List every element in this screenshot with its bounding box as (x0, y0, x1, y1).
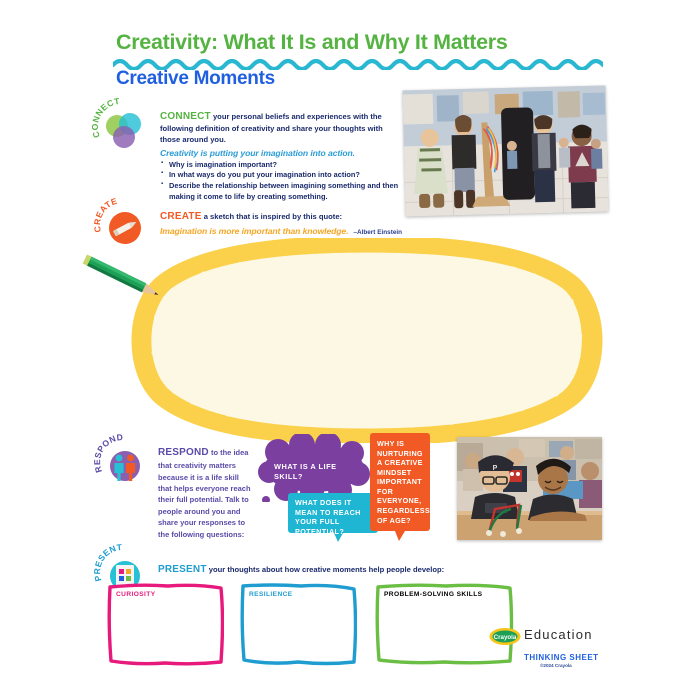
present-section: PRESENT your thoughts about how creative… (158, 564, 444, 575)
quote-attribution: –Albert Einstein (353, 229, 402, 236)
creativity-definition: Creativity is putting your imagination i… (160, 148, 400, 158)
list-item: Why is imagination important? (160, 160, 400, 171)
answer-box-resilience[interactable]: RESILIENCE (239, 582, 357, 666)
present-keyword: PRESENT (158, 564, 207, 575)
create-section: CREATE a sketch that is inspired by this… (160, 211, 430, 236)
connect-keyword: CONNECT (160, 111, 211, 122)
speech-bubble-full-potential[interactable]: WHAT DOES IT MEAN TO REACH YOUR FULL POT… (287, 491, 379, 543)
respond-section: RESPOND to the idea that creativity matt… (158, 445, 254, 540)
answer-box-label: PROBLEM-SOLVING SKILLS (384, 591, 482, 598)
education-label: Education (524, 627, 593, 642)
bubble-text: WHAT IS A LIFE SKILL? (274, 462, 360, 481)
pencil-icon (76, 254, 181, 306)
students-desk-photo: P (457, 437, 602, 540)
copyright-text: ©2024 Crayola (540, 663, 572, 668)
answer-box-problem-solving[interactable]: PROBLEM-SOLVING SKILLS (374, 582, 514, 666)
bubble-text: WHAT DOES IT MEAN TO REACH YOUR FULL POT… (295, 498, 375, 536)
answer-box-label: CURIOSITY (116, 591, 156, 598)
speech-bubble-creative-mindset[interactable]: WHY IS NURTURING A CREATIVE MINDSET IMPO… (369, 431, 431, 543)
answer-box-curiosity[interactable]: CURIOSITY (106, 582, 224, 666)
sketch-canvas-oval[interactable] (128, 238, 606, 443)
thinking-sheet-label: THINKING SHEET (524, 653, 599, 662)
einstein-quote: Imagination is more important than knowl… (160, 226, 348, 236)
svg-text:P: P (493, 465, 498, 472)
respond-badge-icon: RESPOND (100, 440, 148, 488)
connect-badge-icon: CONNECT (100, 106, 148, 154)
thinking-sheet-page: Creativity: What It Is and Why It Matter… (0, 0, 700, 700)
bubble-text: WHY IS NURTURING A CREATIVE MINDSET IMPO… (377, 439, 427, 525)
respond-text: to the idea that creativity matters beca… (158, 448, 251, 539)
page-title: Creativity: What It Is and Why It Matter… (116, 30, 507, 55)
present-intro: your thoughts about how creative moments… (207, 565, 445, 574)
create-keyword: CREATE (160, 211, 202, 222)
page-subtitle: Creative Moments (116, 68, 275, 90)
create-intro: a sketch that is inspired by this quote: (202, 212, 343, 221)
connect-section: CONNECT your personal beliefs and experi… (160, 110, 400, 203)
answer-box-label: RESILIENCE (249, 591, 293, 598)
crayola-wordmark: Crayola (494, 634, 517, 641)
list-item: Describe the relationship between imagin… (160, 181, 400, 202)
students-hallway-photo (402, 86, 608, 217)
respond-keyword: RESPOND (158, 447, 209, 458)
list-item: In what ways do you put your imagination… (160, 170, 400, 181)
connect-question-list: Why is imagination important? In what wa… (160, 160, 400, 203)
present-answer-boxes: CURIOSITY RESILIENCE PROBLEM-SOLVING SKI… (106, 582, 586, 666)
